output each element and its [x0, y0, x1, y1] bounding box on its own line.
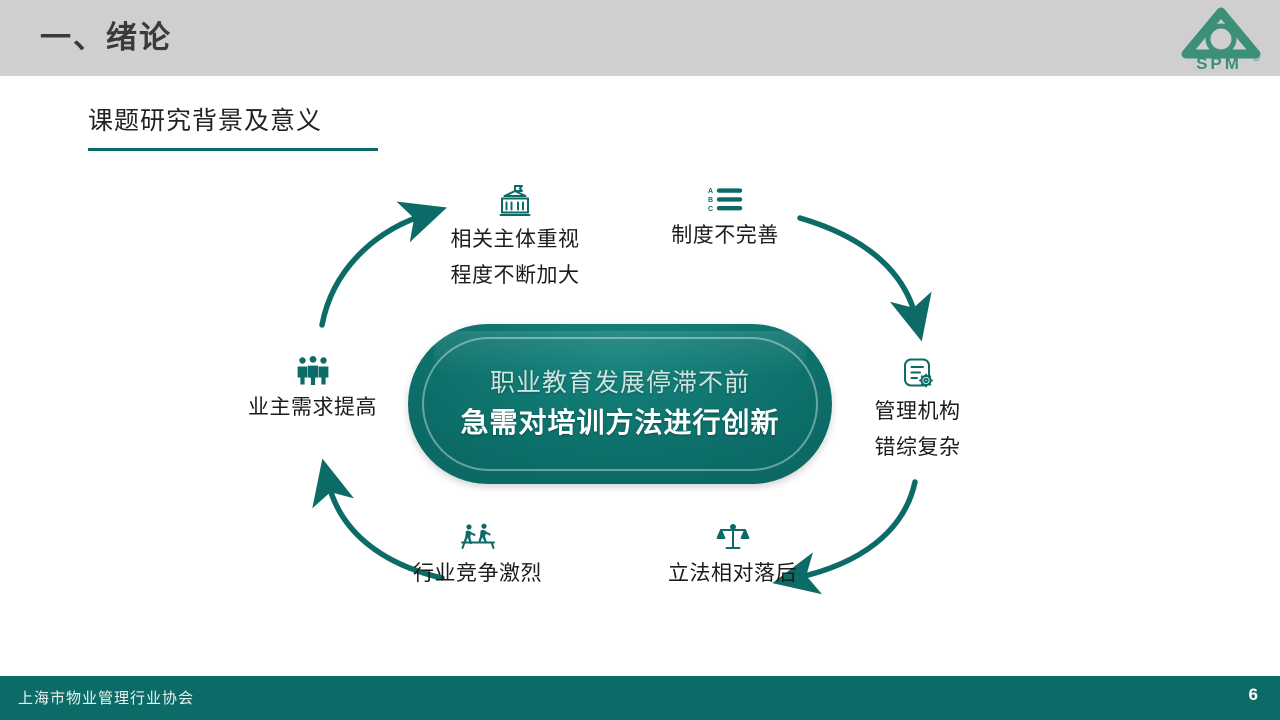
node-label-line2: 错综复杂: [835, 430, 1000, 466]
cycle-diagram: 职业教育发展停滞不前 急需对培训方法进行创新: [0, 160, 1280, 630]
abc-list-icon: A B C: [620, 184, 830, 214]
node-label-line2: 程度不断加大: [390, 258, 640, 294]
node-label-line1: 行业竞争激烈: [380, 556, 575, 592]
slide: 一、绪论 SPM ® 课题研究背景及意义: [0, 0, 1280, 720]
three-people-icon: [215, 356, 410, 386]
node-label-line1: 制度不完善: [620, 218, 830, 254]
svg-text:A: A: [708, 188, 713, 195]
node-top-right[interactable]: A B C 制度不完善: [620, 184, 830, 254]
node-label-line1: 相关主体重视: [390, 222, 640, 258]
logo-trademark-icon: ®: [1253, 53, 1260, 63]
page-number: 6: [1249, 685, 1258, 705]
center-callout: 职业教育发展停滞不前 急需对培训方法进行创新: [408, 324, 832, 484]
node-right[interactable]: 管理机构 错综复杂: [835, 356, 1000, 466]
svg-text:B: B: [708, 197, 713, 204]
node-top-left[interactable]: 相关主体重视 程度不断加大: [390, 184, 640, 294]
logo-wordmark: SPM: [1196, 54, 1242, 72]
section-title: 课题研究背景及意义: [88, 104, 322, 138]
node-bottom-right[interactable]: 立法相对落后: [640, 522, 825, 592]
runners-race-icon: [380, 522, 575, 552]
center-subtitle: 职业教育发展停滞不前: [490, 364, 750, 402]
section-underline: [88, 148, 378, 151]
slide-header: 一、绪论 SPM ®: [0, 0, 1280, 76]
center-headline: 急需对培训方法进行创新: [460, 402, 779, 444]
page-title: 一、绪论: [40, 20, 172, 56]
document-gear-icon: [835, 356, 1000, 390]
node-label-line1: 立法相对落后: [640, 556, 825, 592]
footer-organization: 上海市物业管理行业协会: [18, 687, 194, 708]
spm-logo: SPM ®: [1180, 6, 1262, 72]
logo-triangle-icon: [1186, 12, 1256, 54]
slide-footer: 上海市物业管理行业协会 6: [0, 676, 1280, 720]
node-label-line1: 管理机构: [835, 394, 1000, 430]
node-label-line1: 业主需求提高: [215, 390, 410, 426]
government-building-icon: [390, 184, 640, 218]
balance-scale-icon: [640, 522, 825, 552]
node-left[interactable]: 业主需求提高: [215, 356, 410, 426]
svg-text:C: C: [708, 206, 713, 213]
node-bottom-left[interactable]: 行业竞争激烈: [380, 522, 575, 592]
